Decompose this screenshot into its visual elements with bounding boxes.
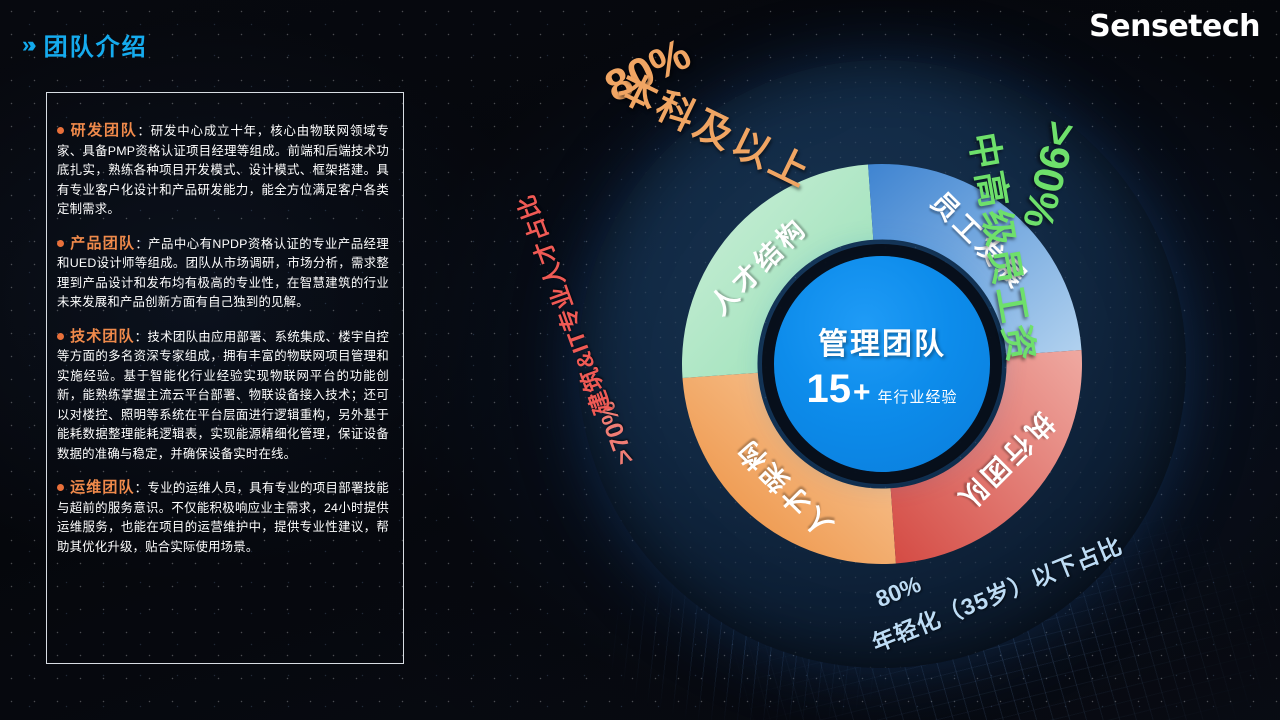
- center-title: 管理团队: [818, 319, 946, 363]
- list-item-body: ：技术团队由应用部署、系统集成、楼宇自控等方面的多名资深专家组成，拥有丰富的物联…: [57, 330, 389, 461]
- list-item: 研发团队：研发中心成立十年，核心由物联网领域专家、具备PMP资格认证项目经理等组…: [57, 121, 389, 220]
- center-stat: 15 + 年行业经验: [806, 369, 957, 409]
- list-item: 技术团队：技术团队由应用部署、系统集成、楼宇自控等方面的多名资深专家组成，拥有丰…: [57, 327, 389, 465]
- chevrons-right-icon: »›: [22, 32, 32, 58]
- center-stat-value: 15: [806, 369, 851, 409]
- slide-canvas: »› 团队介绍 Sensetech 研发团队：研发中心成立十年，核心由物联网领域…: [0, 0, 1280, 720]
- list-item-lead: 运维团队: [70, 479, 135, 496]
- center-stat-unit: 年行业经验: [878, 386, 958, 407]
- bullet-icon: [57, 240, 64, 247]
- center-stat-plus: +: [853, 378, 871, 408]
- list-item-lead: 研发团队: [70, 122, 137, 139]
- bullet-icon: [57, 484, 64, 491]
- bullet-icon: [57, 127, 64, 134]
- page-title-label: 团队介绍: [44, 27, 148, 62]
- donut-center-hub[interactable]: 管理团队 15 + 年行业经验: [774, 256, 990, 472]
- list-item: 运维团队：专业的运维人员，具有专业的项目部署技能与超前的服务意识。不仅能积极响应…: [57, 478, 389, 557]
- page-title: »› 团队介绍: [22, 27, 148, 62]
- list-item: 产品团队：产品中心有NPDP资格认证的专业产品经理和UED设计师等组成。团队从市…: [57, 234, 389, 313]
- bullet-icon: [57, 333, 64, 340]
- team-structure-donut-chart: 人才结构 员工发展 执行团队 人才架构 管理团队 15 + 年行业经验: [572, 54, 1192, 674]
- brand-logo: Sensetech: [1089, 9, 1260, 44]
- list-item-lead: 产品团队: [70, 235, 135, 252]
- team-description-panel: 研发团队：研发中心成立十年，核心由物联网领域专家、具备PMP资格认证项目经理等组…: [46, 92, 404, 664]
- list-item-lead: 技术团队: [70, 328, 135, 345]
